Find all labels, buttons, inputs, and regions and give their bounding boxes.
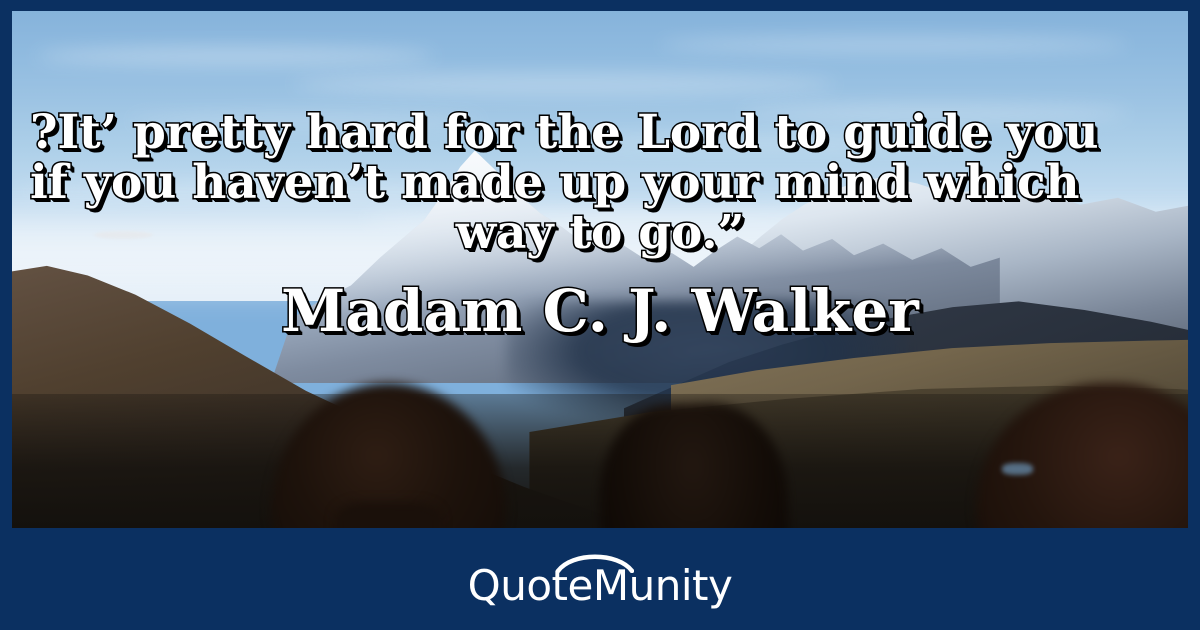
quotemunity-logo[interactable]: QuoteMunity	[468, 551, 733, 607]
ridge-snow-patch	[94, 231, 153, 239]
arc-swoosh-icon	[556, 551, 634, 573]
cloud	[130, 114, 483, 126]
brand-footer: QuoteMunity	[0, 528, 1200, 630]
cloud	[541, 135, 988, 149]
background-photo	[12, 11, 1188, 528]
cloud	[741, 104, 1129, 122]
eyeglasses-highlight	[1002, 463, 1033, 474]
cloud	[294, 73, 835, 95]
foreground-person-left-neck	[335, 502, 441, 528]
quote-card: ?It’ pretty hard for the Lord to guide y…	[0, 0, 1200, 630]
